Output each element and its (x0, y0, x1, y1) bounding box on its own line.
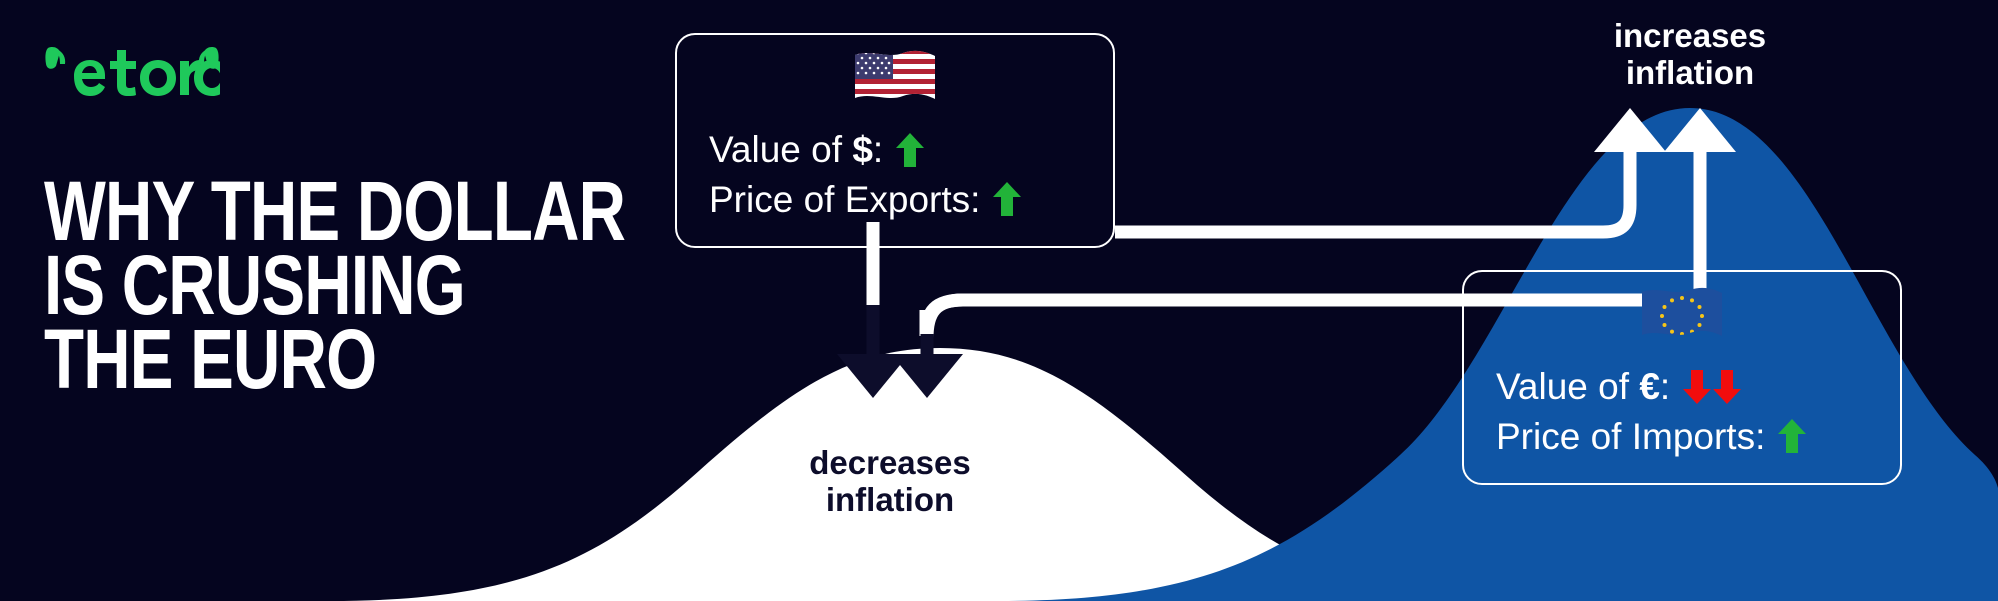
arrow-down-red-icon (1712, 368, 1742, 406)
arrow-up-green-icon (1777, 417, 1807, 455)
us-row-exports-label: Price of Exports: (709, 175, 980, 225)
headline-line-3: THE EURO (44, 323, 625, 397)
increases-line-1: increases (1560, 18, 1820, 55)
etoro-logo-mark (44, 44, 220, 100)
eu-row-imports-label: Price of Imports: (1496, 412, 1765, 462)
us-card-rows: Value of $: Price of Exports: (703, 125, 1087, 224)
arrow-up-green-icon (895, 131, 925, 169)
eu-info-card[interactable]: Value of €: Price of Imports: (1462, 270, 1902, 485)
us-row-price-of-exports: Price of Exports: (703, 175, 1087, 225)
eu-card-rows: Value of €: Price of Imports: (1490, 362, 1874, 461)
arrow-up-green-icon (992, 180, 1022, 218)
decreases-line-2: inflation (770, 482, 1010, 519)
increases-inflation-label: increases inflation (1560, 18, 1820, 92)
infographic-canvas: WHY THE DOLLAR IS CRUSHING THE EURO (0, 0, 1998, 601)
us-row-value-label: Value of $: (709, 125, 883, 175)
page-title: WHY THE DOLLAR IS CRUSHING THE EURO (44, 175, 625, 397)
us-row-value-arrows (895, 131, 925, 169)
eu-row-price-of-imports: Price of Imports: (1490, 412, 1874, 462)
us-flag-icon (853, 49, 937, 121)
increases-line-2: inflation (1560, 55, 1820, 92)
arrow-down-red-icon (1682, 368, 1712, 406)
us-info-card[interactable]: Value of $: Price of Exports: (675, 33, 1115, 248)
us-row-exports-arrows (992, 180, 1022, 218)
eu-row-value-of-euro: Value of €: (1490, 362, 1874, 412)
eu-row-imports-arrows (1777, 417, 1807, 455)
etoro-logo[interactable] (44, 44, 220, 100)
decreases-line-1: decreases (770, 445, 1010, 482)
eu-row-value-label: Value of €: (1496, 362, 1670, 412)
eu-flag-icon (1640, 286, 1724, 358)
decreases-inflation-label: decreases inflation (770, 445, 1010, 519)
us-row-value-of-dollar: Value of $: (703, 125, 1087, 175)
eu-row-value-arrows (1682, 368, 1742, 406)
